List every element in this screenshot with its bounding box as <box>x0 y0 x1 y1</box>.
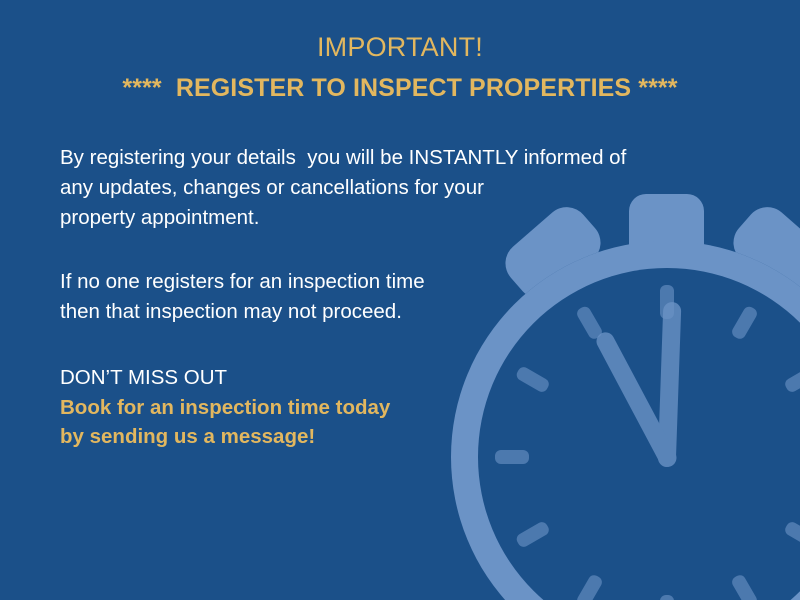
paragraph-line: By registering your details you will be … <box>60 143 740 173</box>
paragraph-line: any updates, changes or cancellations fo… <box>60 173 740 203</box>
slide-canvas: IMPORTANT! **** REGISTER TO INSPECT PROP… <box>0 0 800 600</box>
cta-line-message: by sending us a message! <box>60 422 740 451</box>
cta-headline: DON’T MISS OUT <box>60 363 740 393</box>
paragraph-line: If no one registers for an inspection ti… <box>60 267 740 297</box>
page-title-important: IMPORTANT! <box>0 30 800 65</box>
call-to-action: DON’T MISS OUT Book for an inspection ti… <box>60 363 740 451</box>
paragraph-line: then that inspection may not proceed. <box>60 297 740 327</box>
body-content: By registering your details you will be … <box>60 143 740 451</box>
paragraph-registering: By registering your details you will be … <box>60 143 740 233</box>
paragraph-line: property appointment. <box>60 203 740 233</box>
paragraph-no-registrations: If no one registers for an inspection ti… <box>60 267 740 327</box>
page-title-register: **** REGISTER TO INSPECT PROPERTIES **** <box>0 72 800 106</box>
cta-line-book: Book for an inspection time today <box>60 393 740 422</box>
header: IMPORTANT! **** REGISTER TO INSPECT PROP… <box>0 30 800 105</box>
